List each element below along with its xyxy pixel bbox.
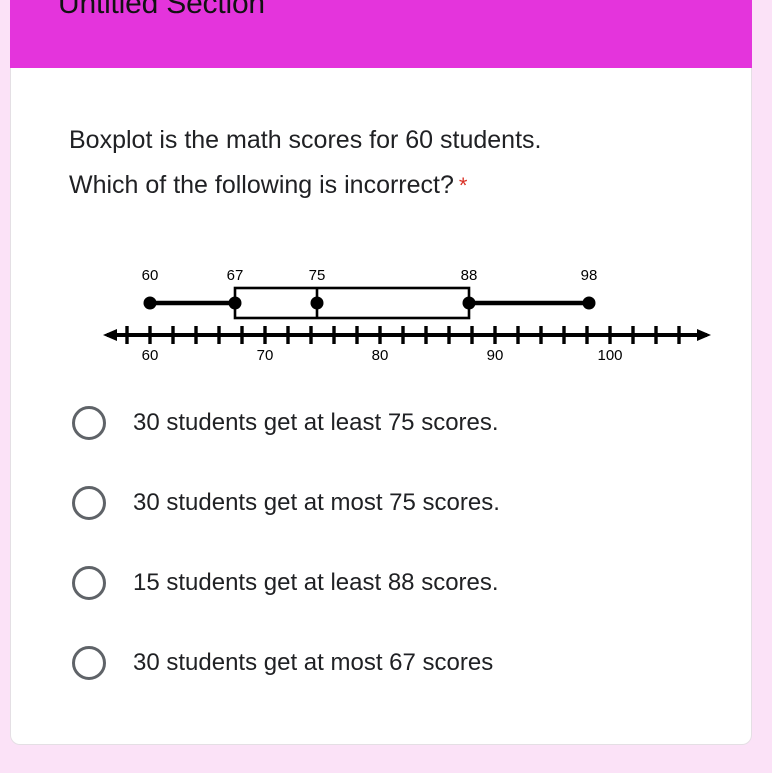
axis-arrow-right bbox=[697, 329, 711, 341]
option-row-3[interactable]: 15 students get at least 88 scores. bbox=[69, 558, 729, 638]
boxplot-label-median: 75 bbox=[309, 267, 326, 284]
question-line-2-text: Which of the following is incorrect? bbox=[69, 171, 454, 199]
radio-button-icon-2[interactable] bbox=[72, 486, 106, 520]
boxplot-dot-min bbox=[144, 297, 157, 310]
axis-tick-label-60: 60 bbox=[142, 347, 159, 364]
form-page: Boxplot is the math scores for 60 studen… bbox=[0, 0, 772, 773]
boxplot-box bbox=[235, 288, 469, 318]
axis-tick-label-80: 80 bbox=[372, 347, 389, 364]
option-row-4[interactable]: 30 students get at most 67 scores bbox=[69, 638, 729, 718]
option-label-2[interactable]: 30 students get at most 75 scores. bbox=[133, 484, 500, 522]
boxplot-dot-max bbox=[583, 297, 596, 310]
option-label-1[interactable]: 30 students get at least 75 scores. bbox=[133, 404, 499, 442]
axis-tick-label-100: 100 bbox=[597, 347, 622, 364]
question-line-2: Which of the following is incorrect?* bbox=[69, 163, 709, 208]
boxplot-label-min: 60 bbox=[142, 267, 159, 284]
section-header: Untitled Section bbox=[10, 0, 752, 68]
boxplot-label-q1: 67 bbox=[227, 267, 244, 284]
boxplot-label-max: 98 bbox=[581, 267, 598, 284]
boxplot-axis: 60 70 80 90 100 bbox=[103, 326, 711, 364]
boxplot-figure: 60 67 75 88 98 bbox=[11, 252, 752, 372]
radio-button-icon-3[interactable] bbox=[72, 566, 106, 600]
section-title: Untitled Section bbox=[58, 0, 265, 21]
axis-tick-label-90: 90 bbox=[487, 347, 504, 364]
option-row-1[interactable]: 30 students get at least 75 scores. bbox=[69, 398, 729, 478]
axis-tick-label-70: 70 bbox=[257, 347, 274, 364]
required-asterisk: * bbox=[459, 173, 468, 198]
option-label-4[interactable]: 30 students get at most 67 scores bbox=[133, 644, 493, 682]
axis-arrow-left bbox=[103, 329, 117, 341]
radio-button-icon-1[interactable] bbox=[72, 406, 106, 440]
boxplot-dot-median bbox=[311, 297, 324, 310]
option-label-3[interactable]: 15 students get at least 88 scores. bbox=[133, 564, 499, 602]
boxplot-dot-q3 bbox=[463, 297, 476, 310]
boxplot-dot-q1 bbox=[229, 297, 242, 310]
question-line-1: Boxplot is the math scores for 60 studen… bbox=[69, 118, 709, 163]
option-row-2[interactable]: 30 students get at most 75 scores. bbox=[69, 478, 729, 558]
question-block: Boxplot is the math scores for 60 studen… bbox=[69, 118, 709, 208]
question-card: Boxplot is the math scores for 60 studen… bbox=[10, 0, 752, 745]
boxplot-label-q3: 88 bbox=[461, 267, 478, 284]
answer-options: 30 students get at least 75 scores. 30 s… bbox=[69, 398, 729, 718]
radio-button-icon-4[interactable] bbox=[72, 646, 106, 680]
